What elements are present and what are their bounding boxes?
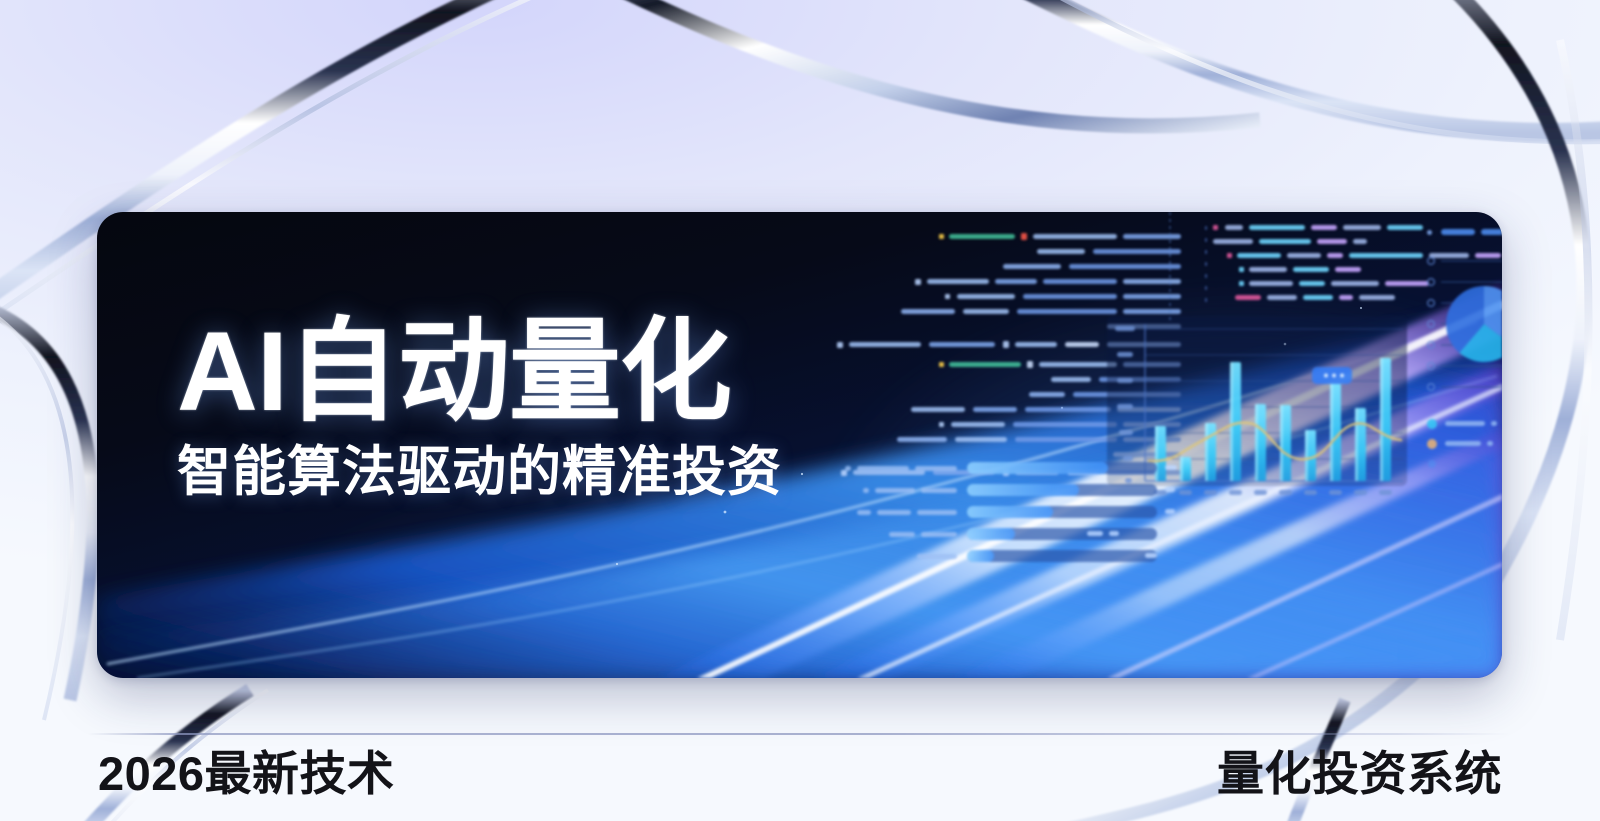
footer-left-label: 2026最新技术 bbox=[98, 748, 395, 801]
code-panel bbox=[1205, 225, 1501, 302]
footer-divider bbox=[88, 733, 1510, 735]
poster-root: AI自动量化 智能算法驱动的精准投资 bbox=[0, 0, 1600, 821]
dashboard-svg bbox=[815, 212, 1502, 590]
pie-legend bbox=[1427, 419, 1497, 468]
hero-card: AI自动量化 智能算法驱动的精准投资 bbox=[97, 212, 1502, 678]
dashboard-graphic bbox=[815, 212, 1502, 590]
chart-tooltip bbox=[1312, 367, 1352, 384]
pie-chart bbox=[1446, 286, 1502, 362]
footer-right-label: 量化投资系统 bbox=[1217, 748, 1502, 801]
pie-chart-panel bbox=[1427, 229, 1502, 468]
